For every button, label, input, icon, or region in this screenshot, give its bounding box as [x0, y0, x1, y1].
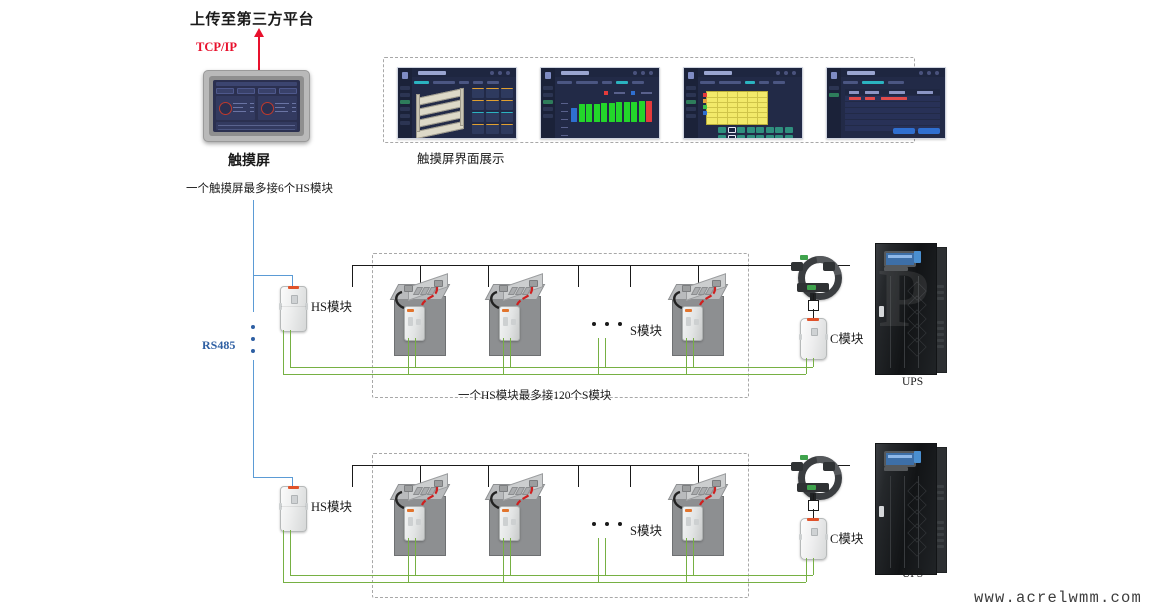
touch-panel-capacity-note: 一个触摸屏最多接6个HS模块: [186, 180, 333, 196]
alarm-action-buttons[interactable]: [893, 128, 940, 134]
current-transformer-row2: [791, 454, 835, 494]
battery-with-s-module: [666, 478, 728, 556]
s-module: [404, 506, 425, 541]
row1-power-drop-d: [578, 265, 579, 287]
panel-screen: [213, 80, 300, 132]
panel-titlebar: [216, 82, 297, 86]
chart-bar: [594, 104, 600, 122]
row2-power-drop-a: [352, 465, 353, 487]
ct-lead-row1-b: [813, 309, 814, 318]
gauge-icon: [261, 102, 274, 115]
c-module-label-row2: C模块: [830, 528, 863, 547]
chart-bar: [616, 102, 622, 122]
battery-rack-graphic: [416, 91, 468, 133]
chart-bar: [579, 104, 585, 122]
hs-row1-green-a: [290, 330, 291, 367]
panel-gauge-cards: [216, 96, 297, 120]
rack-cell-cards: [472, 88, 513, 135]
row1-capacity-note: 一个HS模块最多接120个S模块: [458, 387, 611, 403]
ups-keypad: [914, 451, 921, 463]
ups-lcd-display: [884, 451, 916, 467]
s-module: [404, 306, 425, 341]
screens-strip: [383, 57, 913, 160]
rs485-drop-row1: [292, 275, 293, 286]
row2-power-bus: [352, 465, 850, 466]
chart-bar: [646, 101, 652, 122]
s-module: [499, 306, 520, 341]
ups-lcd-display: [884, 251, 916, 267]
ups-door-pattern: [906, 280, 928, 364]
rs485-bus-segment-bottom: [253, 360, 254, 477]
protocol-label: TCP/IP: [196, 40, 237, 55]
history-curve-plot: [706, 91, 768, 125]
cell-selector-keypad[interactable]: [718, 127, 793, 139]
row2-power-drop-d: [578, 465, 579, 487]
battery-ellipsis-dot: [592, 522, 596, 526]
chart-bars: [571, 99, 652, 122]
row1-power-drop-e: [630, 265, 631, 287]
battery-with-s-module: [666, 278, 728, 356]
touch-panel-device: [203, 70, 310, 142]
ct-lead-row2-b: [813, 509, 814, 518]
row2-sensor-bus-b: [283, 582, 806, 583]
hs-row2-green-a: [290, 530, 291, 575]
battery-with-s-module: [388, 278, 450, 356]
chart-bar: [631, 102, 637, 122]
current-transformer-row1: [791, 254, 835, 294]
chart-bar: [609, 103, 615, 122]
bus-continuation-dot: [251, 325, 255, 329]
bus-continuation-dot: [251, 349, 255, 353]
ups-door-pattern: [906, 480, 928, 564]
panel-data-table: [216, 122, 297, 130]
chart-bar: [586, 104, 592, 122]
battery-ellipsis-dot: [592, 322, 596, 326]
rs485-bus-label: RS485: [202, 338, 235, 353]
c-module-row1: [800, 318, 827, 360]
ups-brand-mark: [884, 467, 908, 471]
row1-power-bus: [352, 265, 850, 266]
chart-y-axis: [561, 97, 569, 122]
ups-brand-mark: [884, 267, 908, 271]
chart-legend: [604, 91, 652, 95]
chart-bar: [639, 101, 645, 122]
chart-bar: [624, 102, 630, 122]
row2-power-drop-e: [630, 465, 631, 487]
hs-module-row2: [280, 486, 307, 532]
ups-label-row1: UPS: [902, 376, 923, 388]
ups-label-row2: UPS: [902, 568, 923, 580]
battery-with-s-module: [483, 478, 545, 556]
hs-module-row1: [280, 286, 307, 332]
rs485-branch-row2: [253, 477, 293, 478]
battery-ellipsis-dot: [618, 522, 622, 526]
uplink-arrow-icon: [258, 36, 260, 70]
s-module: [682, 506, 703, 541]
c-module-row2: [800, 518, 827, 560]
rs485-branch-row1: [253, 275, 293, 276]
hs-row1-green-b: [283, 330, 284, 374]
gauge-icon: [219, 102, 232, 115]
bus-continuation-dot: [251, 337, 255, 341]
battery-with-s-module: [483, 278, 545, 356]
rs485-bus-segment-top: [253, 200, 254, 312]
s-module: [682, 306, 703, 341]
hs-module-label-row1: HS模块: [311, 296, 352, 315]
ups-cabinet-row2: [875, 443, 947, 573]
screen-voltage-bar-chart-view: [540, 67, 660, 139]
s-module-label-row1: S模块: [630, 320, 662, 339]
battery-with-s-module: [388, 478, 450, 556]
chart-bar: [571, 108, 577, 122]
battery-ellipsis-dot: [605, 522, 609, 526]
s-module: [499, 506, 520, 541]
touch-panel-caption: 触摸屏: [228, 150, 270, 170]
battery-ellipsis-dot: [618, 322, 622, 326]
panel-button-row: [216, 88, 297, 94]
ups-door-latch: [879, 306, 884, 317]
hs-module-label-row2: HS模块: [311, 496, 352, 515]
page-title: 上传至第三方平台: [190, 8, 314, 29]
screens-caption: 触摸屏界面展示: [417, 148, 505, 167]
row1-sensor-bus-b: [283, 374, 806, 375]
battery-ellipsis-dot: [605, 322, 609, 326]
screen-battery-rack-view: [397, 67, 517, 139]
row1-sensor-bus-a: [290, 367, 813, 368]
ups-door-latch: [879, 506, 884, 517]
c-module-label-row1: C模块: [830, 328, 863, 347]
screen-alarm-record-view: [826, 67, 946, 139]
s-module-label-row2: S模块: [630, 520, 662, 539]
row2-sensor-bus-a: [290, 575, 813, 576]
hs-row2-green-b: [283, 530, 284, 582]
screen-history-curve-view: [683, 67, 803, 139]
ups-keypad: [914, 251, 921, 263]
alarm-table: [845, 89, 940, 125]
diagram-canvas: 上传至第三方平台 TCP/IP: [0, 0, 1156, 614]
row1-power-drop-a: [352, 265, 353, 287]
chart-bar: [601, 103, 607, 122]
site-watermark: www.acrelwmm.com: [974, 589, 1142, 607]
voltage-bar-chart: [561, 97, 654, 127]
ups-cabinet-row1: [875, 243, 947, 373]
